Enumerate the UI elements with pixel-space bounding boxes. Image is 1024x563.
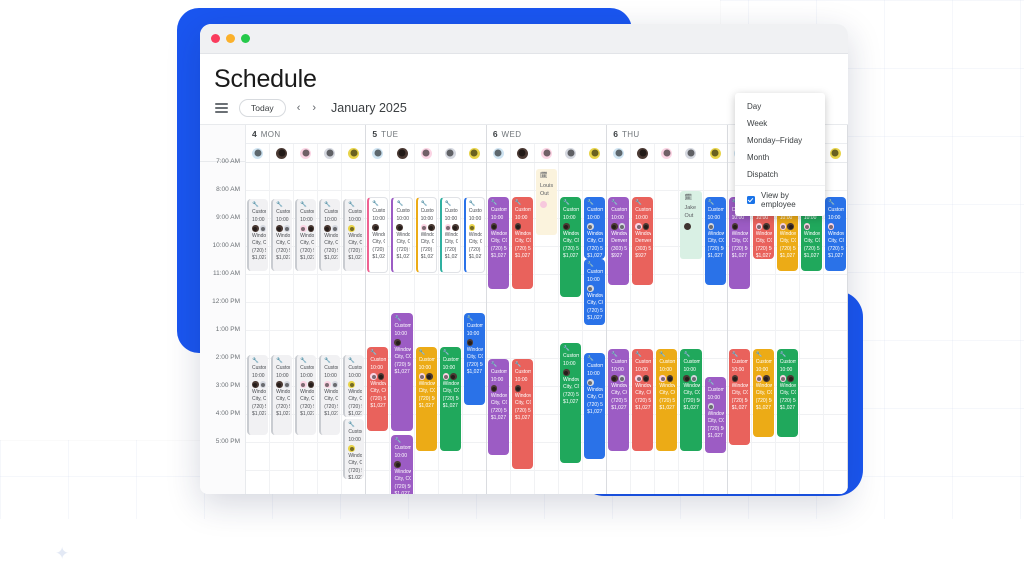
event-line-phone: (720) 56: [587, 308, 603, 316]
event-card[interactable]: 🔧Custome10:00WindowCity, CO(720) 56$1,02…: [584, 197, 605, 259]
event-card[interactable]: 🔧Custome10:00WindowCity, CO(720) 56$1,02…: [271, 355, 292, 435]
avatar: [619, 375, 626, 382]
time-off-block[interactable]: 🗓JakeOut: [680, 191, 701, 259]
view-by-employee-label: View by employee: [761, 191, 825, 209]
event-line-service: Window: [491, 231, 507, 239]
event-line-phone: (720) 56: [756, 246, 772, 254]
event-card[interactable]: 🔧Custome10:00WindowCity, CO(720) 56$1,02…: [656, 349, 677, 451]
avatar: [348, 381, 355, 388]
avatar: [324, 225, 331, 232]
event-line-location: City, CO: [276, 240, 290, 248]
event-avatars: [804, 223, 820, 230]
event-card[interactable]: 🔧Custome10:00WindowCity, CO(720) 56$1,02…: [464, 197, 485, 273]
avatar: [710, 148, 721, 159]
event-line-phone: (720) 56: [491, 408, 507, 416]
event-line-location: City, CO: [515, 400, 531, 408]
avatar: [252, 148, 263, 159]
event-line-price: $1,027: [515, 253, 531, 261]
employee-header-cell[interactable]: [463, 144, 486, 162]
avatar: [428, 224, 435, 231]
avatar: [635, 375, 642, 382]
employee-lane[interactable]: 🔧Custome10:00WindowCity, CO(720) 56$1,02…: [390, 163, 414, 494]
event-card[interactable]: 🔧Custome10:00WindowCity, CO(720) 56$1,02…: [608, 349, 629, 451]
time-off-employee-name: Jake: [684, 204, 699, 213]
wrench-icon: 🔧: [252, 201, 266, 209]
event-customer-name: Custome: [419, 357, 435, 365]
view-dropdown-menu[interactable]: DayWeekMonday–FridayMonthDispatch View b…: [735, 93, 825, 216]
event-line-phone: (720) 56: [469, 247, 482, 255]
event-customer-name: Custome: [563, 207, 579, 215]
wrench-icon: 🔧: [324, 357, 338, 365]
event-time: 10:00: [276, 373, 290, 381]
event-line-location: City, CO: [276, 396, 290, 404]
avatar: [515, 223, 522, 230]
event-line-service: Window: [732, 231, 748, 239]
event-customer-name: Custome: [348, 429, 362, 437]
wrench-icon: 🔧: [756, 351, 772, 359]
event-avatars: [515, 223, 531, 230]
event-line-phone: (720) 56: [419, 396, 435, 404]
minimize-icon[interactable]: [226, 34, 235, 43]
event-card[interactable]: 🔧Custome10:00WindowDenver, C(303) 56$927: [608, 197, 629, 285]
wrench-icon: 🔧: [348, 201, 362, 209]
event-line-location: City, CO: [683, 390, 699, 398]
event-avatars: [467, 339, 483, 346]
employee-lane[interactable]: 🔧Custome10:00WindowCity, CO(720) 56$1,02…: [366, 163, 390, 494]
event-card[interactable]: 🔧Custome10:00WindowCity, CO(720) 56$1,02…: [584, 259, 605, 325]
wrench-icon: 🔧: [324, 201, 338, 209]
avatar: [372, 148, 383, 159]
employee-lane[interactable]: 🔧Custome10:00WindowCity, CO(720) 56$1,02…: [824, 163, 847, 494]
avatar: [780, 375, 787, 382]
event-line-phone: (720) 56: [563, 392, 579, 400]
event-avatars: [252, 225, 266, 232]
close-icon[interactable]: [211, 34, 220, 43]
day-name: WED: [502, 130, 522, 139]
employee-lane[interactable]: 🔧Custome10:00WindowCity, CO(720) 56$1,02…: [270, 163, 294, 494]
employee-header-cell[interactable]: [487, 144, 511, 162]
avatar: [450, 373, 457, 380]
employee-header-cell[interactable]: [342, 144, 365, 162]
event-time: 10:00: [587, 277, 603, 285]
period-label: January 2025: [331, 101, 407, 115]
view-by-employee-checkbox[interactable]: [747, 196, 755, 204]
event-line-price: $1,027: [756, 405, 772, 413]
event-card[interactable]: 🔧Custome10:00WindowDenver, C(303) 56$927: [632, 197, 653, 285]
event-line-price: $1,027: [324, 255, 338, 263]
event-time: 10:00: [587, 371, 603, 379]
avatar: [370, 373, 377, 380]
event-card[interactable]: 🔧Custome10:00WindowCity, CO(720) 56$1,02…: [777, 349, 798, 437]
avatar: [763, 375, 770, 382]
avatar: [635, 223, 642, 230]
employee-lane[interactable]: 🔧Custome10:00WindowDenver, C(303) 56$927…: [607, 163, 631, 494]
avatar: [787, 223, 794, 230]
avatar: [394, 339, 401, 346]
event-card[interactable]: 🔧Custome10:00WindowCity, CO(720) 56$1,02…: [295, 199, 316, 271]
time-label-text: 4:00 PM: [216, 410, 240, 417]
event-customer-name: Custome: [587, 363, 603, 371]
event-customer-name: Custome: [708, 387, 724, 395]
event-card[interactable]: 🔧Custome10:00WindowCity, CO(720) 56$1,02…: [319, 355, 340, 435]
event-line-service: Window: [396, 232, 409, 240]
event-avatars: [659, 375, 675, 382]
event-line-location: Denver, C: [635, 238, 651, 246]
day-body: 🔧Custome10:00WindowCity, CO(720) 56$1,02…: [487, 163, 606, 494]
wrench-icon: 🔧: [828, 199, 844, 207]
event-line-location: Denver, C: [611, 238, 627, 246]
event-time: 10:00: [372, 216, 385, 224]
event-line-price: $1,027: [563, 399, 579, 407]
dropdown-item-week[interactable]: Week: [735, 115, 825, 132]
event-customer-name: Custome: [372, 208, 385, 216]
event-line-phone: (720) 56: [467, 362, 483, 370]
wrench-icon: 🔧: [780, 351, 796, 359]
avatar: [300, 148, 311, 159]
employee-avatar-row: [607, 144, 726, 163]
time-off-block[interactable]: 🗓LouisOut: [536, 169, 557, 235]
event-card[interactable]: 🔧Custome10:00WindowCity, CO(720) 56$1,02…: [343, 355, 364, 417]
employee-avatar-row: [246, 144, 365, 163]
event-card[interactable]: 🔧Custome10:00WindowCity, CO(720) 56$1,02…: [729, 349, 750, 445]
employee-header-cell[interactable]: [390, 144, 414, 162]
event-time: 10:00: [635, 367, 651, 375]
event-line-service: Window: [708, 231, 724, 239]
day-name: TUE: [381, 130, 398, 139]
employee-lane[interactable]: 🔧Custome10:00WindowCity, CO(720) 56$1,02…: [415, 163, 439, 494]
avatar: [661, 148, 672, 159]
event-line-service: Window: [635, 383, 651, 391]
employee-header-cell[interactable]: [655, 144, 679, 162]
event-card[interactable]: 🔧Custome10:00WindowCity, CO(720) 56$1,02…: [584, 353, 605, 459]
avatar: [613, 148, 624, 159]
day-body: 🔧Custome10:00WindowDenver, C(303) 56$927…: [607, 163, 726, 494]
event-line-price: $1,027: [324, 411, 338, 419]
event-line-phone: (720) 56: [780, 246, 796, 254]
event-line-price: $1,027: [491, 253, 507, 261]
employee-header-cell[interactable]: [511, 144, 535, 162]
maximize-icon[interactable]: [241, 34, 250, 43]
event-time: 10:00: [563, 215, 579, 223]
event-customer-name: Custome: [421, 208, 434, 216]
wrench-icon: 🔧: [300, 357, 314, 365]
event-line-phone: (720) 56: [370, 396, 386, 404]
time-label-text: 2:00 PM: [216, 354, 240, 361]
employee-lane[interactable]: 🔧Custome10:00WindowCity, CO(720) 56$1,02…: [583, 163, 606, 494]
employee-lane[interactable]: 🔧Custome10:00WindowCity, CO(720) 56$1,02…: [246, 163, 270, 494]
avatar: [378, 373, 385, 380]
event-line-price: $1,027: [635, 405, 651, 413]
employee-lane[interactable]: 🗓JakeOut🔧Custome10:00WindowCity, CO(720)…: [679, 163, 703, 494]
next-period-button[interactable]: ›: [311, 102, 317, 114]
event-card[interactable]: 🔧Custome10:00WindowCity, CO(720) 56$1,02…: [488, 197, 509, 289]
wrench-icon: 🔧: [443, 349, 459, 357]
employee-header-cell[interactable]: [366, 144, 390, 162]
avatar: [659, 375, 666, 382]
avatar: [276, 381, 283, 388]
event-time: 10:00: [683, 367, 699, 375]
event-card[interactable]: 🔧Custome10:00WindowCity, CO(720) 56$1,02…: [343, 419, 364, 479]
event-card[interactable]: 🔧Custome10:00WindowCity, CO(720) 56$1,02…: [753, 349, 774, 437]
event-card[interactable]: 🔧Custome10:00WindowCity, CO(720) 56$1,02…: [440, 197, 461, 273]
event-time: 10:00: [659, 367, 675, 375]
event-card[interactable]: 🔧Custome10:00WindowCity, CO(720) 56$1,02…: [705, 197, 726, 285]
event-card[interactable]: 🔧Custome10:00WindowCity, CO(720) 56$1,02…: [271, 199, 292, 271]
event-card[interactable]: 🔧Custome10:00WindowCity, CO(720) 56$1,02…: [343, 199, 364, 271]
event-time: 10:00: [491, 377, 507, 385]
avatar: [260, 225, 267, 232]
employee-header-cell[interactable]: [270, 144, 294, 162]
event-line-location: City, CO: [587, 238, 603, 246]
event-time: 10:00: [445, 216, 458, 224]
time-label-text: 11:00 AM: [213, 270, 240, 277]
employee-lane[interactable]: 🔧Custome10:00WindowCity, CO(720) 56$1,02…: [559, 163, 583, 494]
event-time: 10:00: [635, 215, 651, 223]
employee-header-cell[interactable]: [415, 144, 439, 162]
event-line-phone: (720) 56: [445, 247, 458, 255]
wrench-icon: 🔧: [708, 379, 724, 387]
event-line-price: $1,027: [708, 253, 724, 261]
event-customer-name: Custome: [300, 365, 314, 373]
dropdown-item-dispatch[interactable]: Dispatch: [735, 166, 825, 183]
employee-header-cell[interactable]: [246, 144, 270, 162]
event-card[interactable]: 🔧Custome10:00WindowCity, CO(720) 56$1,02…: [512, 197, 533, 289]
employee-header-cell[interactable]: [631, 144, 655, 162]
event-time: 10:00: [252, 217, 266, 225]
event-line-location: City, CO: [491, 238, 507, 246]
employee-lane[interactable]: 🔧Custome10:00WindowCity, CO(720) 56$1,02…: [342, 163, 365, 494]
event-line-location: City, CO: [780, 238, 796, 246]
event-line-price: $1,027: [348, 411, 362, 417]
employee-header-cell[interactable]: [824, 144, 847, 162]
avatar: [763, 223, 770, 230]
avatar: [276, 148, 287, 159]
event-time: 10:00: [300, 217, 314, 225]
time-off-status: Out: [540, 190, 555, 199]
avatar: [732, 223, 739, 230]
gutter-spacer: [200, 125, 245, 162]
event-customer-name: Custome: [443, 357, 459, 365]
wrench-icon: 🔧: [732, 351, 748, 359]
event-card[interactable]: 🔧Custome10:00WindowCity, CO(720) 56$1,02…: [825, 197, 846, 271]
event-line-location: City, CO: [348, 240, 362, 248]
employee-header-cell[interactable]: [439, 144, 463, 162]
day-column: 5TUE🔧Custome10:00WindowCity, CO(720) 56$…: [366, 125, 486, 494]
event-card[interactable]: 🔧Custome10:00WindowCity, CO(720) 56$1,02…: [391, 435, 412, 494]
day-number: 4: [252, 129, 257, 139]
event-avatars: [252, 381, 266, 388]
prev-period-button[interactable]: ‹: [296, 102, 302, 114]
event-avatars: [276, 225, 290, 232]
event-line-service: Window: [370, 381, 386, 389]
event-line-service: Window: [300, 389, 314, 397]
employee-lane[interactable]: 🔧Custome10:00WindowCity, CO(720) 56$1,02…: [655, 163, 679, 494]
avatar: [300, 381, 307, 388]
event-line-location: City, CO: [732, 238, 748, 246]
event-avatars: [635, 223, 651, 230]
event-line-location: City, CO: [394, 354, 410, 362]
avatar: [469, 148, 480, 159]
dropdown-item-month[interactable]: Month: [735, 149, 825, 166]
wrench-icon: 🔧: [445, 200, 458, 208]
employee-lane[interactable]: 🔧Custome10:00WindowCity, CO(720) 56$1,02…: [487, 163, 511, 494]
employee-lane[interactable]: 🔧Custome10:00WindowCity, CO(720) 56$1,02…: [463, 163, 486, 494]
employee-header-cell[interactable]: [559, 144, 583, 162]
event-customer-name: Custome: [445, 208, 458, 216]
employee-lane[interactable]: 🔧Custome10:00WindowCity, CO(720) 56$1,02…: [704, 163, 727, 494]
event-line-location: City, CO: [396, 239, 409, 247]
employee-header-cell[interactable]: [294, 144, 318, 162]
event-card[interactable]: 🔧Custome10:00WindowCity, CO(720) 56$1,02…: [632, 349, 653, 451]
event-time: 10:00: [611, 367, 627, 375]
event-avatars: [732, 223, 748, 230]
event-line-location: City, CO: [324, 396, 338, 404]
event-line-service: Window: [419, 381, 435, 389]
event-avatars: [587, 223, 603, 230]
event-line-price: $1,027: [348, 255, 362, 263]
event-line-location: City, CO: [611, 390, 627, 398]
event-card[interactable]: 🔧Custome10:00WindowCity, CO(720) 56$1,02…: [680, 349, 701, 451]
event-line-service: Window: [324, 233, 338, 241]
event-card[interactable]: 🔧Custome10:00WindowCity, CO(720) 56$1,02…: [367, 197, 388, 273]
event-avatars: [683, 375, 699, 382]
event-card[interactable]: 🔧Custome10:00WindowCity, CO(720) 56$1,02…: [247, 355, 268, 435]
dropdown-item-day[interactable]: Day: [735, 98, 825, 115]
event-line-price: $1,027: [419, 403, 435, 411]
event-line-location: City, CO: [370, 388, 386, 396]
event-line-price: $1,027: [732, 405, 748, 413]
employee-lane[interactable]: 🗓LouisOut: [535, 163, 559, 494]
employee-lane[interactable]: 🔧Custome10:00WindowDenver, C(303) 56$927…: [631, 163, 655, 494]
employee-header-cell[interactable]: [535, 144, 559, 162]
wrench-icon: 🔧: [252, 357, 266, 365]
event-line-location: City, CO: [563, 238, 579, 246]
event-line-phone: (720) 56: [756, 398, 772, 406]
event-avatars: [732, 375, 748, 382]
event-line-price: $1,027: [445, 254, 458, 262]
avatar: [611, 375, 618, 382]
event-card[interactable]: 🔧Custome10:00WindowCity, CO(720) 56$1,02…: [512, 359, 533, 469]
employee-lane[interactable]: 🔧Custome10:00WindowCity, CO(720) 56$1,02…: [318, 163, 342, 494]
event-line-service: Window: [394, 347, 410, 355]
event-line-location: City, CO: [756, 390, 772, 398]
event-time: 10:00: [563, 361, 579, 369]
event-time: 10:00: [324, 373, 338, 381]
avatar: [348, 445, 355, 452]
avatar: [445, 148, 456, 159]
event-card[interactable]: 🔧Custome10:00WindowCity, CO(720) 56$1,02…: [705, 377, 726, 453]
event-line-service: Window: [587, 231, 603, 239]
event-line-phone: (720) 56: [563, 246, 579, 254]
day-number: 6: [493, 129, 498, 139]
time-label-text: 5:00 PM: [216, 438, 240, 445]
event-line-service: Window: [587, 293, 603, 301]
avatar: [426, 373, 433, 380]
event-line-service: Window: [683, 383, 699, 391]
employee-header-cell[interactable]: [704, 144, 727, 162]
today-button[interactable]: Today: [239, 99, 286, 117]
event-line-price: $1,027: [443, 403, 459, 411]
event-line-price: $1,027: [708, 433, 724, 441]
event-card[interactable]: 🔧Custome10:00WindowCity, CO(720) 56$1,02…: [416, 197, 437, 273]
event-card[interactable]: 🔧Custome10:00WindowCity, CO(720) 56$1,02…: [464, 313, 485, 405]
event-customer-name: Custome: [611, 359, 627, 367]
avatar: [445, 224, 452, 231]
avatar: [491, 223, 498, 230]
event-avatars: [394, 461, 410, 468]
event-card[interactable]: 🔧Custome10:00WindowCity, CO(720) 56$1,02…: [247, 199, 268, 271]
wrench-icon: 🔧: [587, 355, 603, 363]
event-line-service: Window: [443, 381, 459, 389]
employee-header-cell[interactable]: [679, 144, 703, 162]
employee-lane[interactable]: 🔧Custome10:00WindowCity, CO(720) 56$1,02…: [439, 163, 463, 494]
event-card[interactable]: 🔧Custome10:00WindowCity, CO(720) 56$1,02…: [440, 347, 461, 451]
employee-header-cell[interactable]: [607, 144, 631, 162]
dropdown-item-monday-friday[interactable]: Monday–Friday: [735, 132, 825, 149]
event-line-service: Window: [587, 387, 603, 395]
event-customer-name: Custome: [276, 209, 290, 217]
employee-header-cell[interactable]: [583, 144, 606, 162]
day-name: THU: [622, 130, 640, 139]
avatar: [643, 223, 650, 230]
event-card[interactable]: 🔧Custome10:00WindowCity, CO(720) 56$1,02…: [391, 197, 412, 273]
employee-header-cell[interactable]: [318, 144, 342, 162]
event-avatars: [443, 373, 459, 380]
event-card[interactable]: 🔧Custome10:00WindowCity, CO(720) 56$1,02…: [319, 199, 340, 271]
event-line-location: City, CO: [348, 396, 362, 404]
event-card[interactable]: 🔧Custome10:00WindowCity, CO(720) 56$1,02…: [367, 347, 388, 431]
event-line-price: $1,027: [683, 405, 699, 413]
employee-lane[interactable]: 🔧Custome10:00WindowCity, CO(720) 56$1,02…: [294, 163, 318, 494]
event-customer-name: Custome: [683, 359, 699, 367]
event-card[interactable]: 🔧Custome10:00WindowCity, CO(720) 56$1,02…: [488, 359, 509, 455]
event-line-phone: (720) 56: [611, 398, 627, 406]
employee-lane[interactable]: 🔧Custome10:00WindowCity, CO(720) 56$1,02…: [511, 163, 535, 494]
event-line-price: $1,027: [804, 253, 820, 261]
event-line-location: City, CO: [828, 238, 844, 246]
event-line-price: $1,027: [732, 253, 748, 261]
event-card[interactable]: 🔧Custome10:00WindowCity, CO(720) 56$1,02…: [560, 343, 581, 463]
wrench-icon: 🔧: [419, 349, 435, 357]
event-line-service: Window: [348, 233, 362, 241]
avatar: [515, 385, 522, 392]
event-card[interactable]: 🔧Custome10:00WindowCity, CO(720) 56$1,02…: [560, 197, 581, 297]
event-customer-name: Custome: [469, 208, 482, 216]
event-line-phone: (720) 56: [828, 246, 844, 254]
event-customer-name: Custome: [276, 365, 290, 373]
event-card[interactable]: 🔧Custome10:00WindowCity, CO(720) 56$1,02…: [416, 347, 437, 451]
event-line-service: Window: [491, 393, 507, 401]
avatar: [421, 224, 428, 231]
event-line-price: $1,027: [252, 411, 266, 419]
view-by-employee-row[interactable]: View by employee: [735, 185, 825, 213]
event-line-location: City, CO: [443, 388, 459, 396]
event-customer-name: Custome: [491, 369, 507, 377]
event-avatars: [348, 445, 362, 452]
event-card[interactable]: 🔧Custome10:00WindowCity, CO(720) 56$1,02…: [295, 355, 316, 435]
event-customer-name: Custome: [252, 209, 266, 217]
event-avatars: [394, 339, 410, 346]
avatar: [300, 225, 307, 232]
wrench-icon: 🔧: [276, 201, 290, 209]
avatar: [708, 223, 715, 230]
event-time: 10:00: [491, 215, 507, 223]
event-card[interactable]: 🔧Custome10:00WindowCity, CO(720) 56$1,02…: [391, 313, 412, 431]
hamburger-icon[interactable]: [214, 101, 229, 114]
event-line-service: Window: [611, 231, 627, 239]
wrench-icon: 🔧: [491, 199, 507, 207]
event-time: 10:00: [611, 215, 627, 223]
